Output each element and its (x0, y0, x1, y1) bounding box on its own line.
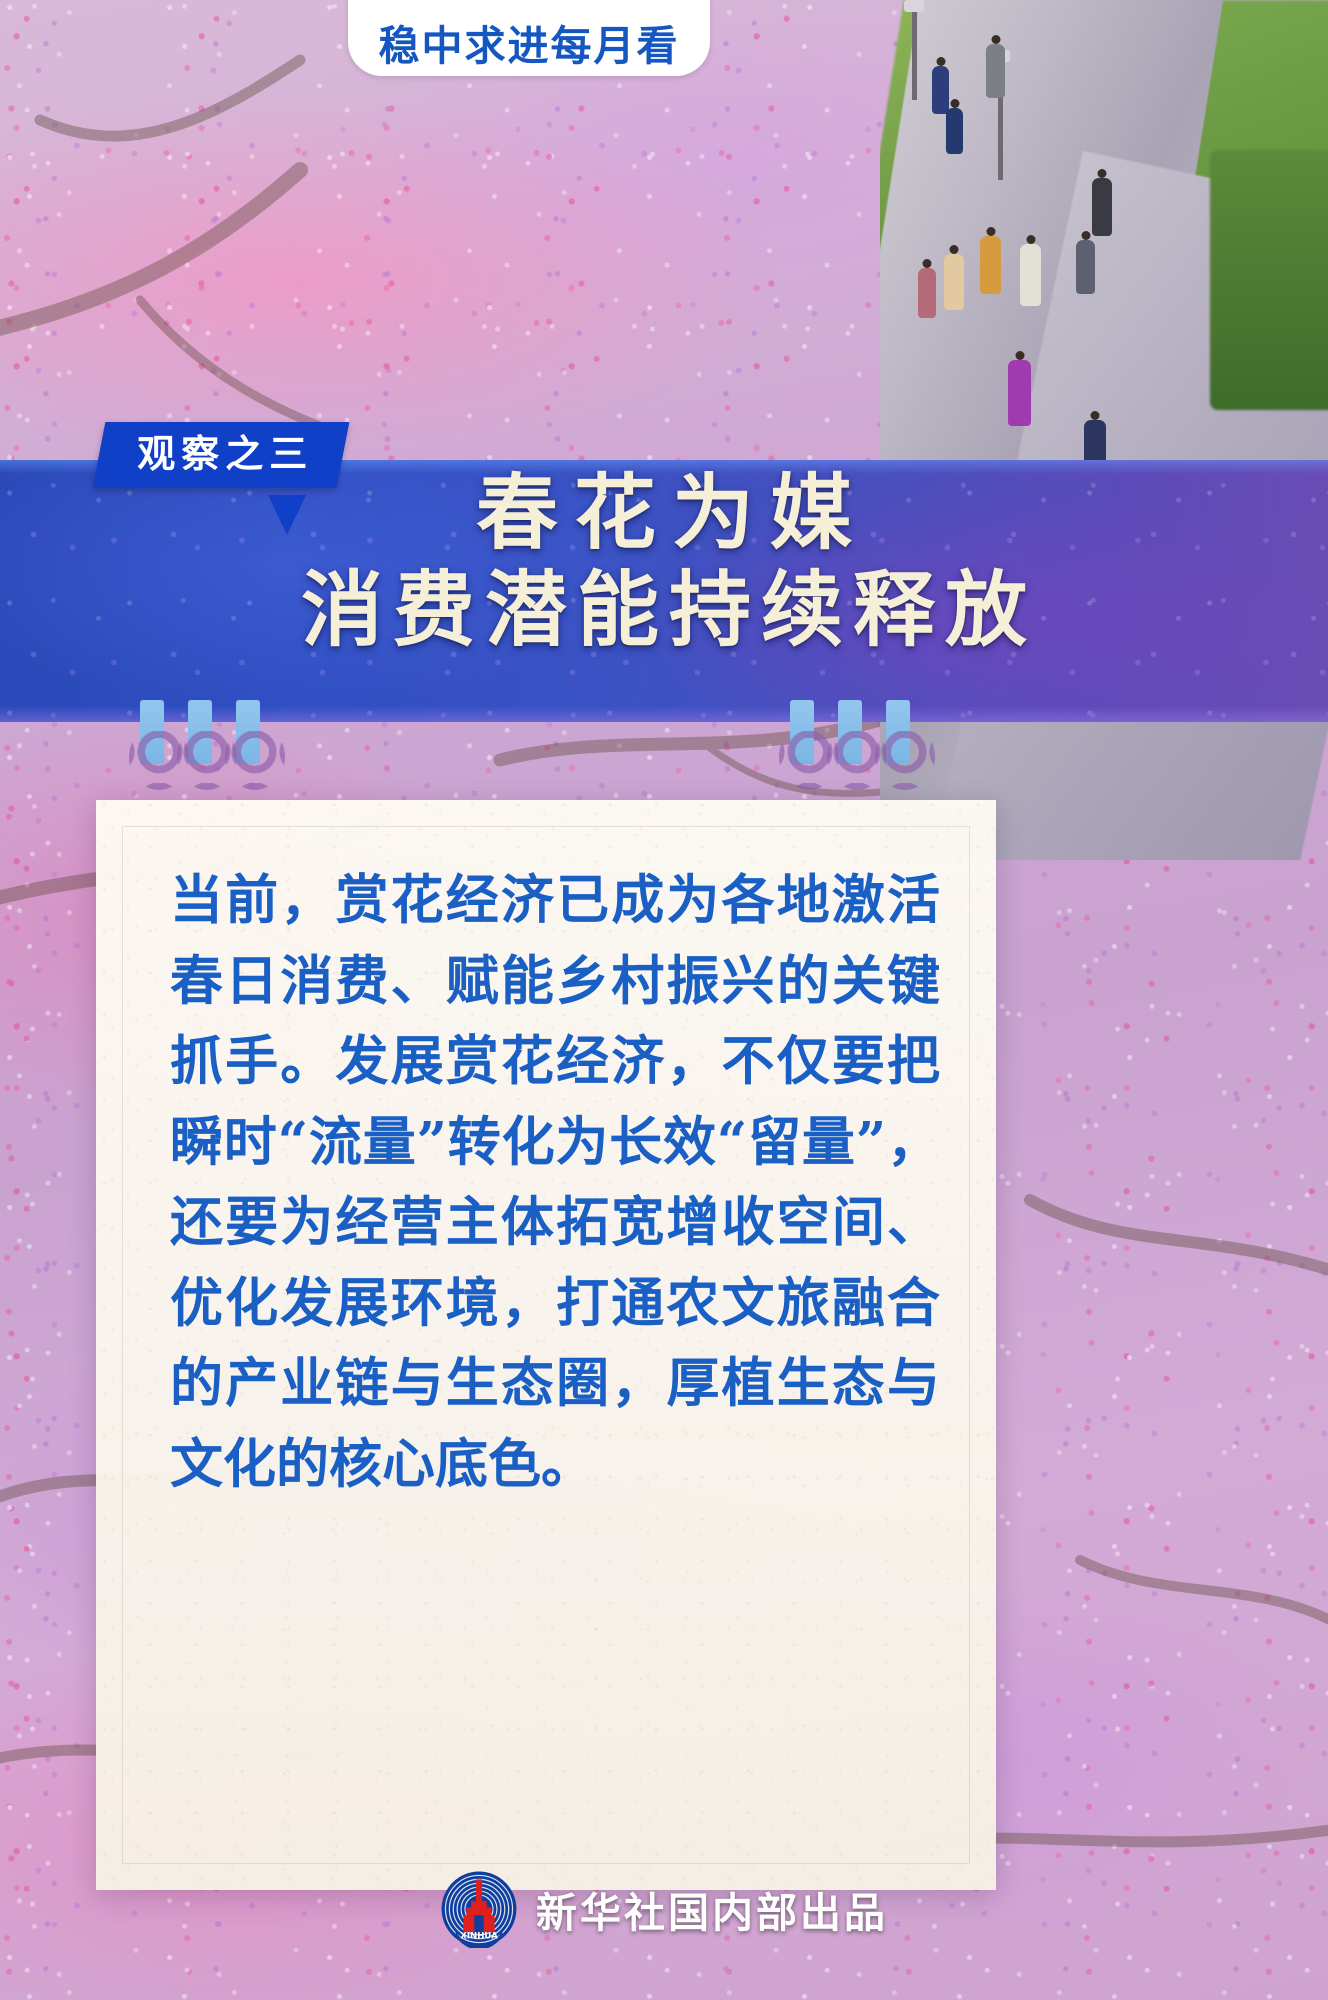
clip-icon (838, 700, 862, 764)
card-clips-left (140, 700, 340, 810)
clip-icon (790, 700, 814, 764)
poster-root: 稳中求进每月看 观察之三 春花为媒 消费潜能持续释放 当前，赏花经济已成为各地激… (0, 0, 1328, 2000)
clip-icon (140, 700, 164, 764)
body-paragraph: 当前，赏花经济已成为各地激活春日消费、赋能乡村振兴的关键抓手。发展赏花经济，不仅… (170, 860, 940, 1504)
clip-icon (886, 700, 910, 764)
headline: 春花为媒 消费潜能持续释放 (0, 466, 1328, 660)
headline-line-2: 消费潜能持续释放 (0, 561, 1328, 659)
xinhua-logo-icon: XINHUA (440, 1870, 518, 1948)
series-title-text: 稳中求进每月看 (379, 26, 680, 67)
content-card: 当前，赏花经济已成为各地激活春日消费、赋能乡村振兴的关键抓手。发展赏花经济，不仅… (96, 800, 996, 1890)
card-clips-right (790, 700, 990, 810)
clip-icon (236, 700, 260, 764)
footer-credit: 新华社国内部出品 (536, 1879, 888, 1939)
svg-text:XINHUA: XINHUA (460, 1932, 498, 1942)
headline-line-1: 春花为媒 (0, 466, 1328, 561)
clip-icon (188, 700, 212, 764)
series-title-tab: 稳中求进每月看 (348, 0, 710, 76)
footer: XINHUA 新华社国内部出品 (0, 1870, 1328, 1948)
